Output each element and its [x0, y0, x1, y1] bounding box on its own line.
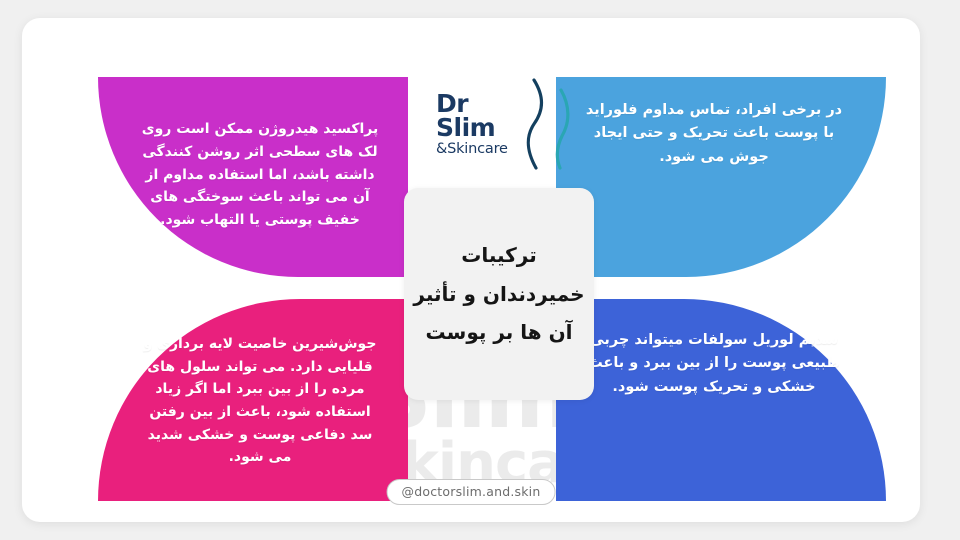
infographic-poster: Dr Slim &Skincare پراکسید هیدروژن ممکن ا…	[22, 18, 920, 522]
petal-bottom-right: سدیم لوریل سولفات میتواند چربی طبیعی پوس…	[556, 299, 886, 501]
petal-top-right: در برخی افراد، تماس مداوم فلوراید با پوس…	[556, 77, 886, 277]
center-title-card: ترکیبات خمیردندان و تأثیر آن ها بر پوست	[404, 188, 594, 400]
social-handle-badge[interactable]: @doctorslim.and.skin	[387, 479, 556, 505]
page-title: ترکیبات خمیردندان و تأثیر آن ها بر پوست	[404, 236, 594, 351]
screenshot-root: Dr Slim &Skincare پراکسید هیدروژن ممکن ا…	[0, 0, 960, 540]
brand-logo: Dr Slim &Skincare	[404, 70, 594, 178]
petal-bottom-right-text: سدیم لوریل سولفات میتواند چربی طبیعی پوس…	[582, 329, 846, 399]
petal-top-left: پراکسید هیدروژن ممکن است روی لک های سطحی…	[98, 77, 408, 277]
silhouette-icon	[514, 76, 576, 172]
logo-inner: Dr Slim &Skincare	[424, 76, 574, 172]
social-handle-label: @doctorslim.and.skin	[402, 484, 541, 499]
petal-bottom-left: جوش‌شیرین خاصیت لایه برداری و قلیایی دار…	[98, 299, 408, 501]
logo-wordmark: Dr Slim &Skincare	[436, 92, 508, 157]
logo-line-slim: Slim	[436, 116, 508, 140]
logo-line-skincare: &Skincare	[436, 143, 508, 157]
petal-top-right-text: در برخی افراد، تماس مداوم فلوراید با پوس…	[582, 99, 846, 169]
petal-bottom-left-text: جوش‌شیرین خاصیت لایه برداری و قلیایی دار…	[138, 333, 382, 469]
petal-top-left-text: پراکسید هیدروژن ممکن است روی لک های سطحی…	[138, 118, 382, 231]
